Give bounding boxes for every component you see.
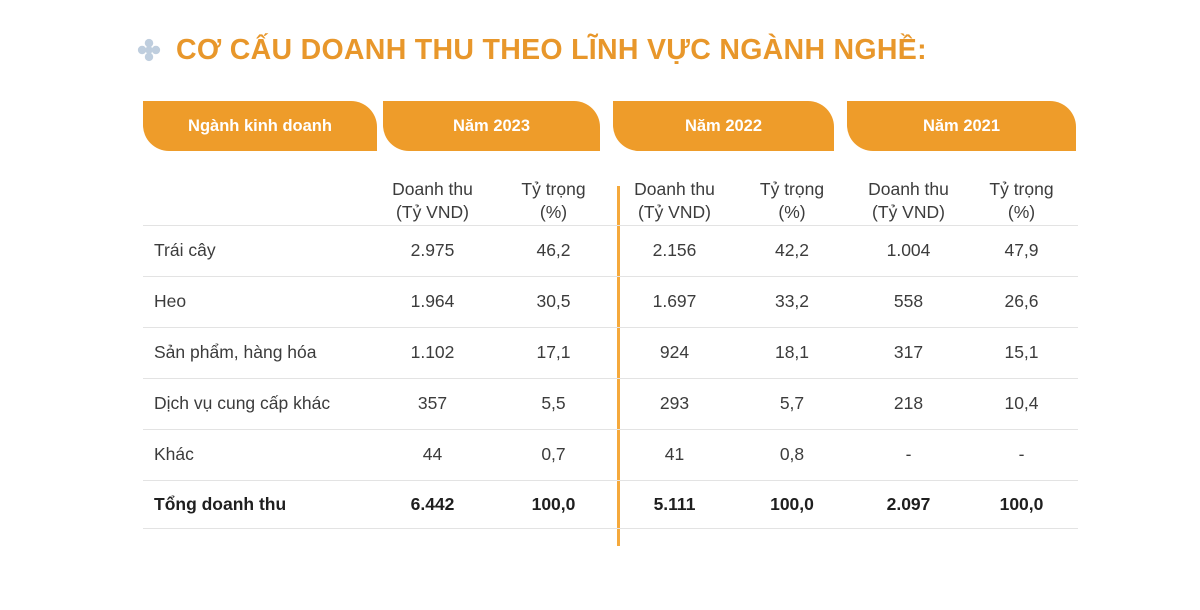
cell-pct-2021: - (965, 429, 1078, 480)
bottom-rule-cell (852, 528, 965, 529)
subheader-rev-2022-line2: (Tỷ VND) (617, 201, 732, 224)
total-rev-2022: 5.111 (617, 480, 732, 528)
cell-rev-2022: 924 (617, 327, 732, 378)
row-category: Dịch vụ cung cấp khác (143, 378, 375, 429)
tab-label-nganh-kinh-doanh: Ngành kinh doanh (143, 101, 377, 151)
cell-pct-2022: 33,2 (732, 276, 852, 327)
cell-pct-2021: 47,9 (965, 225, 1078, 276)
subheader-pct-2023-line1: Tỷ trọng (521, 179, 585, 199)
subheader-category (143, 178, 375, 225)
cell-pct-2022: 18,1 (732, 327, 852, 378)
cell-rev-2021: 558 (852, 276, 965, 327)
cell-rev-2022: 1.697 (617, 276, 732, 327)
subheader-rev-2023-line2: (Tỷ VND) (375, 201, 490, 224)
cell-pct-2023: 17,1 (490, 327, 617, 378)
cell-rev-2023: 1.964 (375, 276, 490, 327)
cell-rev-2021: 317 (852, 327, 965, 378)
tab-label-nam-2021: Năm 2021 (847, 101, 1076, 151)
cell-rev-2022: 41 (617, 429, 732, 480)
subheader-rev-2022: Doanh thu (Tỷ VND) (617, 178, 732, 225)
total-pct-2021: 100,0 (965, 480, 1078, 528)
cell-rev-2023: 1.102 (375, 327, 490, 378)
page-title-row: CƠ CẤU DOANH THU THEO LĨNH VỰC NGÀNH NGH… (136, 36, 927, 65)
cell-pct-2023: 30,5 (490, 276, 617, 327)
subheader-rev-2021: Doanh thu (Tỷ VND) (852, 178, 965, 225)
subheader-pct-2023-line2: (%) (490, 201, 617, 224)
subheader-rev-2021-line1: Doanh thu (868, 179, 949, 199)
clover-icon (136, 37, 162, 63)
total-pct-2022: 100,0 (732, 480, 852, 528)
table-row: Khác 44 0,7 41 0,8 - - (143, 429, 1078, 480)
cell-rev-2021: - (852, 429, 965, 480)
subheader-rev-2022-line1: Doanh thu (634, 179, 715, 199)
row-category: Heo (143, 276, 375, 327)
cell-pct-2022: 5,7 (732, 378, 852, 429)
row-category: Khác (143, 429, 375, 480)
cell-pct-2023: 5,5 (490, 378, 617, 429)
revenue-table-wrapper: Doanh thu (Tỷ VND) Tỷ trọng (%) Doanh th… (143, 178, 1078, 529)
revenue-by-sector-table: Doanh thu (Tỷ VND) Tỷ trọng (%) Doanh th… (143, 178, 1078, 529)
subheader-pct-2021: Tỷ trọng (%) (965, 178, 1078, 225)
subheader-pct-2022: Tỷ trọng (%) (732, 178, 852, 225)
tab-label-nam-2022: Năm 2022 (613, 101, 834, 151)
bottom-rule-cell (375, 528, 490, 529)
table-row: Heo 1.964 30,5 1.697 33,2 558 26,6 (143, 276, 1078, 327)
subheader-pct-2021-line1: Tỷ trọng (989, 179, 1053, 199)
cell-rev-2023: 357 (375, 378, 490, 429)
cell-pct-2023: 0,7 (490, 429, 617, 480)
cell-pct-2021: 26,6 (965, 276, 1078, 327)
tab-label-nam-2023: Năm 2023 (383, 101, 600, 151)
cell-pct-2021: 15,1 (965, 327, 1078, 378)
subheader-rev-2023: Doanh thu (Tỷ VND) (375, 178, 490, 225)
table-row: Sản phẩm, hàng hóa 1.102 17,1 924 18,1 3… (143, 327, 1078, 378)
total-label: Tổng doanh thu (143, 480, 375, 528)
subheader-rev-2021-line2: (Tỷ VND) (852, 201, 965, 224)
year-tab-bar: Ngành kinh doanh Năm 2023 Năm 2022 Năm 2… (0, 101, 1200, 151)
cell-rev-2022: 2.156 (617, 225, 732, 276)
cell-rev-2021: 1.004 (852, 225, 965, 276)
cell-pct-2023: 46,2 (490, 225, 617, 276)
cell-rev-2021: 218 (852, 378, 965, 429)
subheader-pct-2023: Tỷ trọng (%) (490, 178, 617, 225)
row-category: Sản phẩm, hàng hóa (143, 327, 375, 378)
cell-rev-2023: 2.975 (375, 225, 490, 276)
table-row: Trái cây 2.975 46,2 2.156 42,2 1.004 47,… (143, 225, 1078, 276)
cell-pct-2021: 10,4 (965, 378, 1078, 429)
bottom-rule-cell (143, 528, 375, 529)
table-row: Dịch vụ cung cấp khác 357 5,5 293 5,7 21… (143, 378, 1078, 429)
cell-pct-2022: 42,2 (732, 225, 852, 276)
subheader-pct-2022-line1: Tỷ trọng (760, 179, 824, 199)
row-category: Trái cây (143, 225, 375, 276)
cell-rev-2022: 293 (617, 378, 732, 429)
bottom-rule-cell (490, 528, 617, 529)
subheader-rev-2023-line1: Doanh thu (392, 179, 473, 199)
bottom-rule-cell (617, 528, 732, 529)
table-bottom-rule (143, 528, 1078, 529)
page-title: CƠ CẤU DOANH THU THEO LĨNH VỰC NGÀNH NGH… (176, 36, 927, 65)
total-rev-2023: 6.442 (375, 480, 490, 528)
bottom-rule-cell (965, 528, 1078, 529)
total-pct-2023: 100,0 (490, 480, 617, 528)
cell-rev-2023: 44 (375, 429, 490, 480)
total-rev-2021: 2.097 (852, 480, 965, 528)
cell-pct-2022: 0,8 (732, 429, 852, 480)
bottom-rule-cell (732, 528, 852, 529)
subheader-pct-2021-line2: (%) (965, 201, 1078, 224)
table-total-row: Tổng doanh thu 6.442 100,0 5.111 100,0 2… (143, 480, 1078, 528)
table-subheader-row: Doanh thu (Tỷ VND) Tỷ trọng (%) Doanh th… (143, 178, 1078, 225)
subheader-pct-2022-line2: (%) (732, 201, 852, 224)
